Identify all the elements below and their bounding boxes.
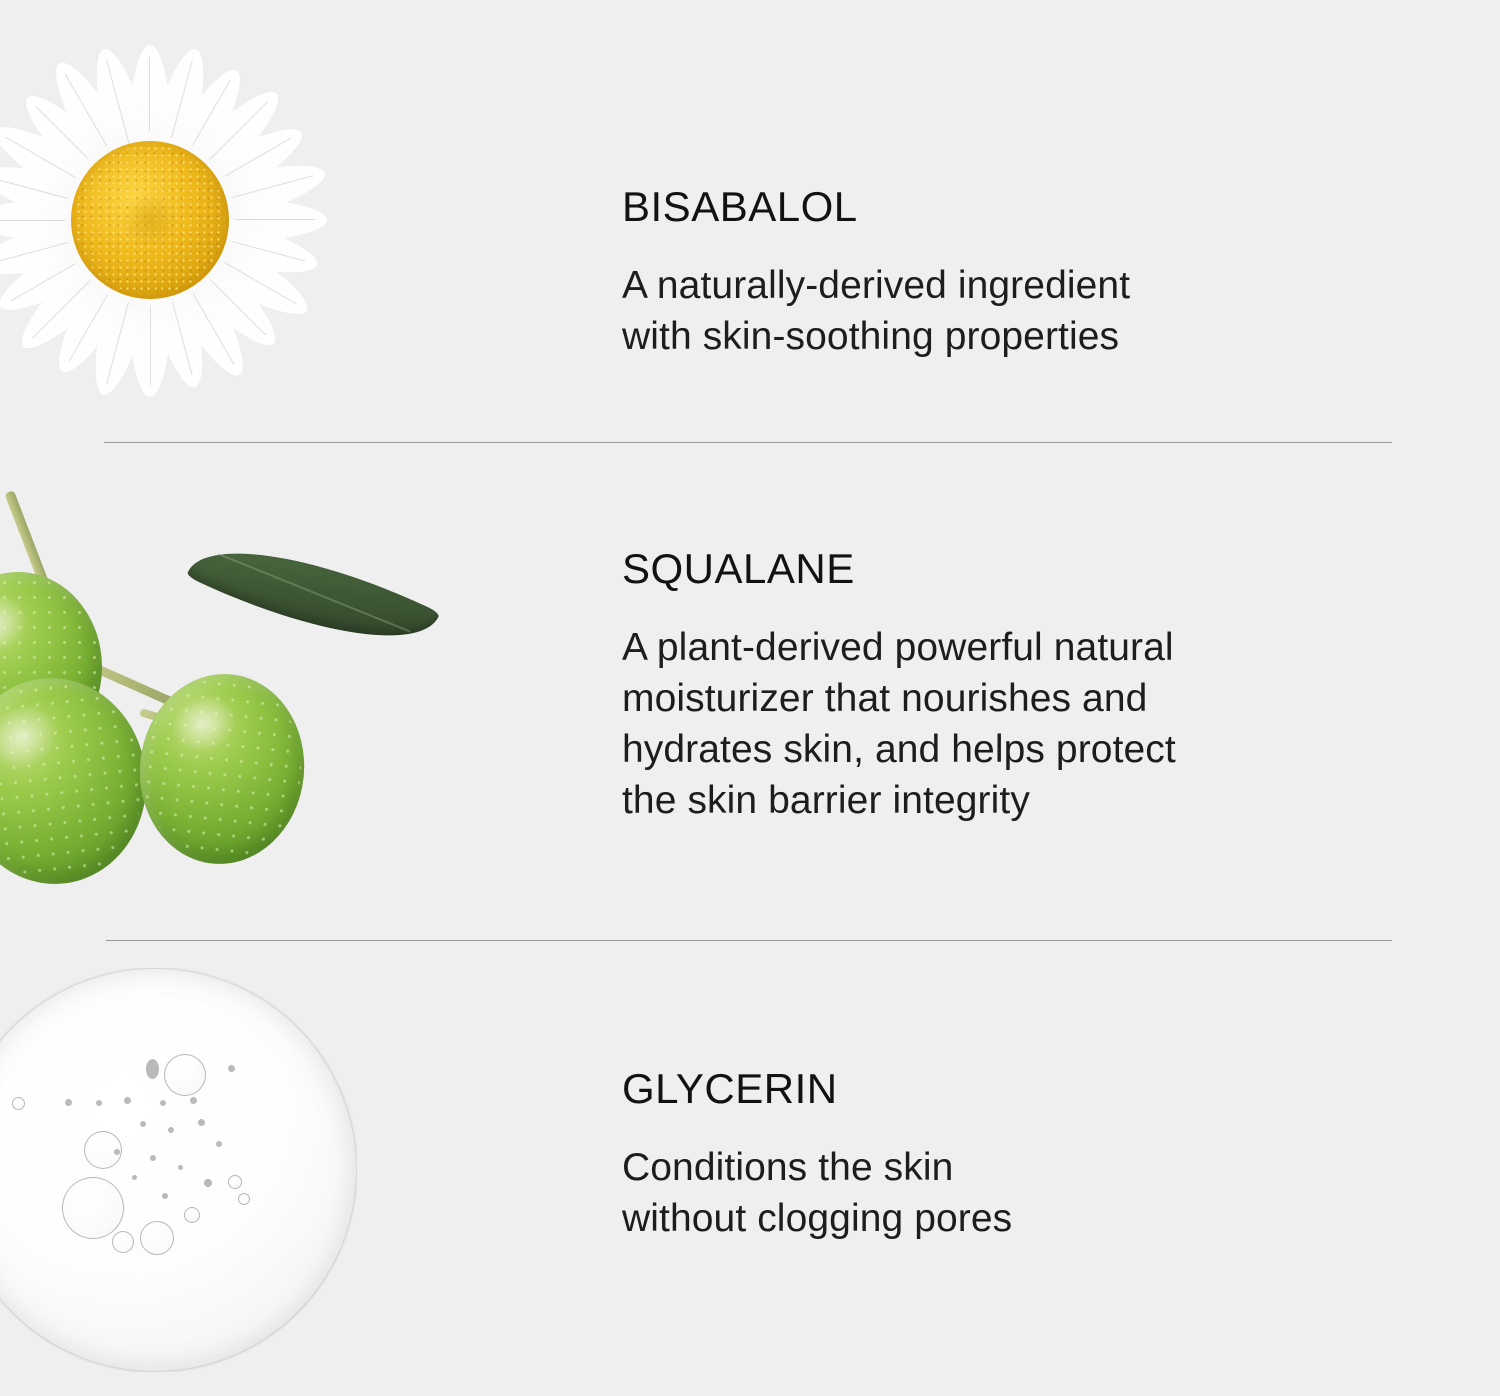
ingredient-copy-glycerin: GLYCERIN Conditions the skin without clo…: [622, 1068, 1012, 1244]
olive-leaf: [186, 509, 440, 680]
olive-fruit: [0, 669, 156, 893]
clear-gel-droplet-image: [0, 968, 357, 1372]
ingredient-section-bisabalol: BISABALOL A naturally-derived ingredient…: [0, 0, 1500, 442]
ingredient-title: SQUALANE: [622, 548, 1176, 590]
ingredients-page: BISABALOL A naturally-derived ingredient…: [0, 0, 1500, 1396]
ingredient-copy-squalane: SQUALANE A plant-derived powerful natura…: [622, 548, 1176, 826]
ingredient-title: GLYCERIN: [622, 1068, 1012, 1110]
green-olives-image: [0, 462, 460, 932]
ingredient-description: A naturally-derived ingredient with skin…: [622, 260, 1130, 362]
ingredient-section-squalane: SQUALANE A plant-derived powerful natura…: [0, 442, 1500, 940]
ingredient-description: Conditions the skin without clogging por…: [622, 1142, 1012, 1244]
ingredient-section-glycerin: GLYCERIN Conditions the skin without clo…: [0, 940, 1500, 1396]
daisy-center: [71, 141, 229, 299]
daisy-flower-image: [0, 10, 370, 430]
ingredient-copy-bisabalol: BISABALOL A naturally-derived ingredient…: [622, 186, 1130, 362]
gel-droplet: [0, 968, 357, 1372]
ingredient-title: BISABALOL: [622, 186, 1130, 228]
ingredient-description: A plant-derived powerful natural moistur…: [622, 622, 1176, 826]
